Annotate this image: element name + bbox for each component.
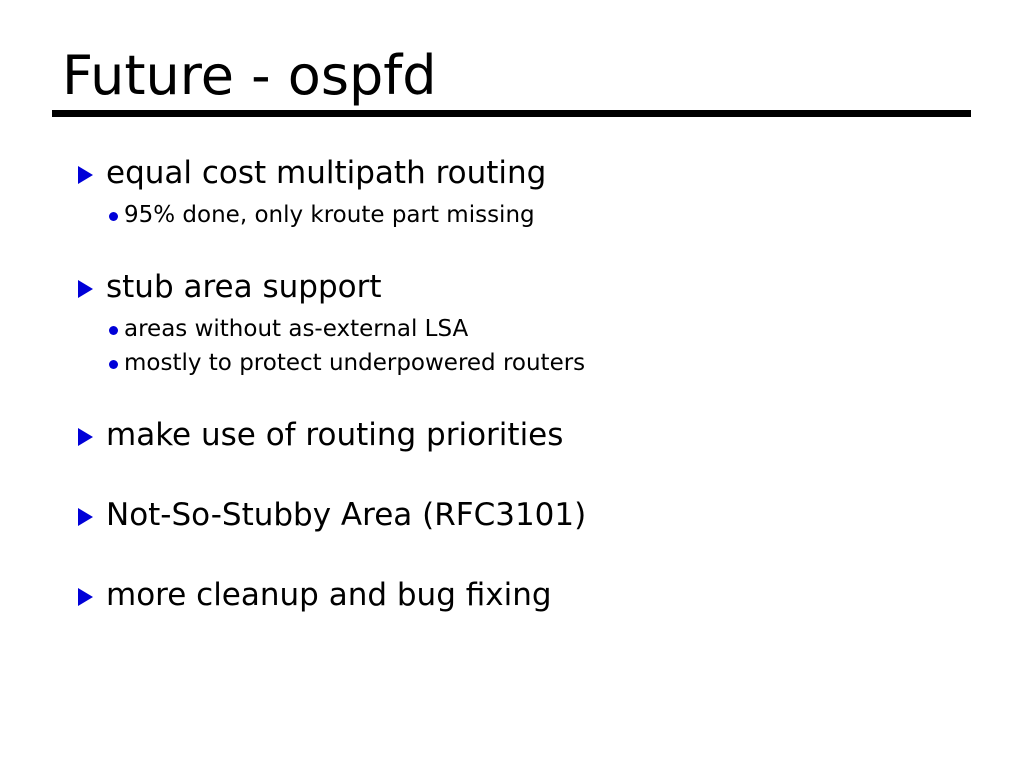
list-item-label: equal cost multipath routing: [106, 155, 546, 191]
triangle-right-icon: [78, 508, 93, 526]
list-item: make use of routing priorities: [52, 414, 992, 456]
list-item-label: Not-So-Stubby Area (RFC3101): [106, 497, 586, 533]
list-item: 95% done, only kroute part missing: [52, 198, 992, 232]
list-item-label: make use of routing priorities: [106, 417, 563, 453]
triangle-right-icon: [78, 428, 93, 446]
triangle-right-icon: [78, 166, 93, 184]
title-block: Future - ospfd: [52, 46, 971, 117]
spacer: [52, 536, 992, 570]
list-item: equal cost multipath routing: [52, 152, 992, 194]
list-item: more cleanup and bug fixing: [52, 574, 992, 616]
bullet-group: Not-So-Stubby Area (RFC3101): [52, 494, 992, 536]
page-title: Future - ospfd: [52, 46, 971, 106]
list-item-label: 95% done, only kroute part missing: [124, 202, 535, 228]
slide-body: equal cost multipath routing 95% done, o…: [52, 152, 992, 616]
list-item-label: areas without as-external LSA: [124, 316, 468, 342]
dot-icon: [109, 326, 118, 335]
list-item: Not-So-Stubby Area (RFC3101): [52, 494, 992, 536]
triangle-right-icon: [78, 588, 93, 606]
list-item: mostly to protect underpowered routers: [52, 346, 992, 380]
list-item-label: more cleanup and bug fixing: [106, 577, 552, 613]
bullet-group: equal cost multipath routing 95% done, o…: [52, 152, 992, 232]
dot-icon: [109, 360, 118, 369]
presentation-slide: Future - ospfd equal cost multipath rout…: [0, 0, 1024, 768]
bullet-group: make use of routing priorities: [52, 414, 992, 456]
spacer: [52, 232, 992, 266]
list-item: stub area support: [52, 266, 992, 308]
spacer: [52, 456, 992, 490]
title-underline-rule: [52, 110, 971, 117]
dot-icon: [109, 212, 118, 221]
triangle-right-icon: [78, 280, 93, 298]
bullet-group: more cleanup and bug fixing: [52, 574, 992, 616]
list-item-label: stub area support: [106, 269, 382, 305]
spacer: [52, 380, 992, 414]
bullet-group: stub area support areas without as-exter…: [52, 266, 992, 380]
list-item: areas without as-external LSA: [52, 312, 992, 346]
list-item-label: mostly to protect underpowered routers: [124, 350, 585, 376]
